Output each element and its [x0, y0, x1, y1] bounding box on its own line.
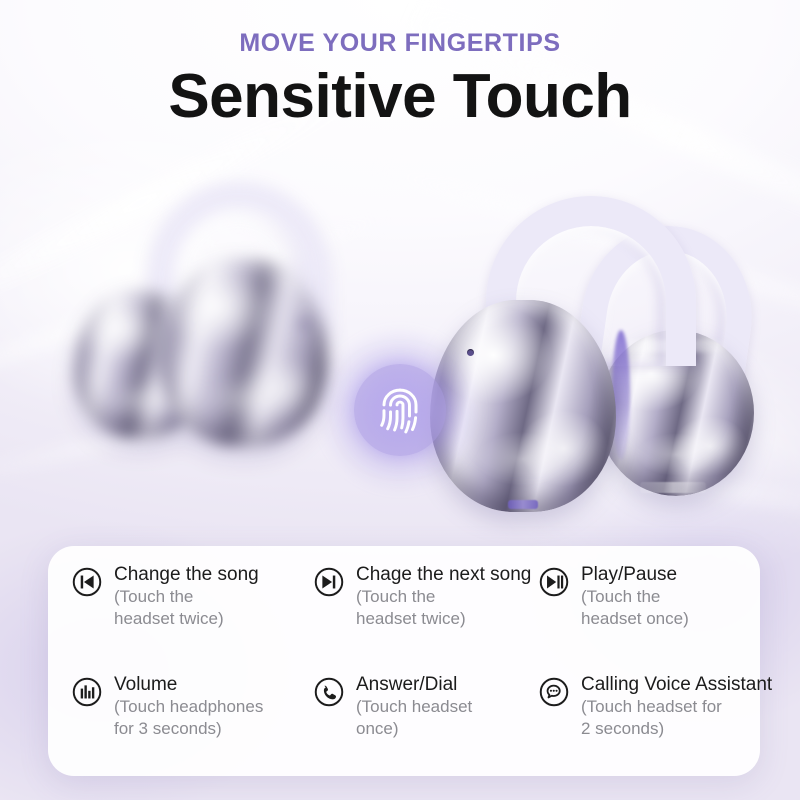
touch-controls-grid: Change the song (Touch the headset twice… [70, 564, 746, 762]
feature-text: Chage the next song (Touch the headset t… [356, 564, 531, 630]
feature-subtitle-line: 2 seconds) [581, 718, 772, 740]
feature-subtitle: (Touch headset for 2 seconds) [581, 696, 772, 740]
fingerprint-icon [366, 376, 434, 444]
earbud-mic-hole [467, 349, 474, 356]
feature-title: Volume [114, 674, 177, 695]
next-track-icon [312, 565, 346, 599]
fingerprint-touch-indicator [346, 356, 454, 464]
feature-title: Change the song [114, 564, 259, 585]
feature-subtitle: (Touch headset once) [356, 696, 472, 740]
feature-change-the-song: Change the song (Touch the headset twice… [70, 564, 312, 674]
eyebrow-text: MOVE YOUR FINGERTIPS [0, 30, 800, 58]
feature-subtitle-line: headset once) [581, 608, 689, 630]
product-marketing-poster: MOVE YOUR FINGERTIPS Sensitive Touch [0, 0, 800, 800]
feature-subtitle: (Touch headphones for 3 seconds) [114, 696, 263, 740]
feature-calling-voice-assistant: Calling Voice Assistant (Touch headset f… [537, 674, 772, 774]
phone-call-icon [312, 675, 346, 709]
earbud-base-marking [508, 500, 538, 509]
voice-assistant-icon [537, 675, 571, 709]
feature-title: Chage the next song [356, 564, 531, 585]
previous-track-icon [70, 565, 104, 599]
feature-subtitle: (Touch the headset once) [581, 586, 689, 630]
feature-subtitle-line: headset twice) [356, 608, 531, 630]
feature-volume: Volume (Touch headphones for 3 seconds) [70, 674, 312, 774]
earbud-body [160, 258, 328, 446]
feature-text: Answer/Dial (Touch headset once) [356, 674, 472, 740]
play-pause-icon [537, 565, 571, 599]
feature-subtitle: (Touch the headset twice) [356, 586, 531, 630]
feature-play-pause: Play/Pause (Touch the headset once) [537, 564, 772, 674]
feature-subtitle-line: headset twice) [114, 608, 259, 630]
feature-subtitle-line: (Touch headphones [114, 696, 263, 718]
volume-equalizer-icon [70, 675, 104, 709]
touch-controls-card: Change the song (Touch the headset twice… [48, 546, 760, 776]
feature-subtitle: (Touch the headset twice) [114, 586, 259, 630]
feature-text: Volume (Touch headphones for 3 seconds) [114, 674, 263, 740]
earbud-base-marking [640, 482, 706, 493]
feature-subtitle-line: once) [356, 718, 472, 740]
feature-text: Play/Pause (Touch the headset once) [581, 564, 689, 630]
feature-subtitle-line: for 3 seconds) [114, 718, 263, 740]
feature-subtitle-line: (Touch headset [356, 696, 472, 718]
earbud-mic-hole [300, 320, 307, 327]
poster-headings: MOVE YOUR FINGERTIPS Sensitive Touch [0, 30, 800, 129]
feature-subtitle-line: (Touch the [581, 586, 689, 608]
earbud-seam [612, 330, 630, 460]
feature-text: Change the song (Touch the headset twice… [114, 564, 259, 630]
feature-change-the-next-song: Chage the next song (Touch the headset t… [312, 564, 537, 674]
feature-title: Play/Pause [581, 564, 677, 585]
feature-subtitle-line: (Touch the [356, 586, 531, 608]
feature-title: Calling Voice Assistant [581, 674, 772, 695]
page-title: Sensitive Touch [0, 64, 800, 129]
feature-subtitle-line: (Touch the [114, 586, 259, 608]
feature-answer-dial: Answer/Dial (Touch headset once) [312, 674, 537, 774]
feature-text: Calling Voice Assistant (Touch headset f… [581, 674, 772, 740]
feature-subtitle-line: (Touch headset for [581, 696, 772, 718]
feature-title: Answer/Dial [356, 674, 457, 695]
